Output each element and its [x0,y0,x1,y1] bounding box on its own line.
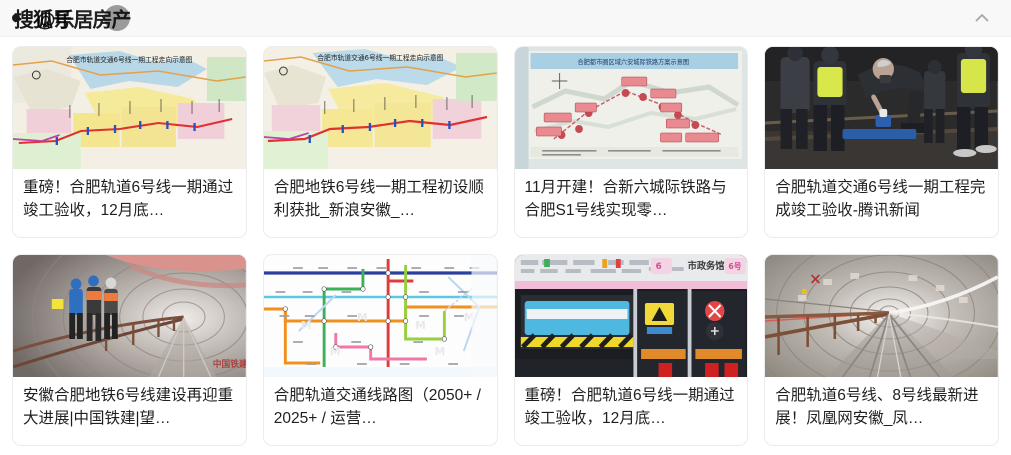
svg-text:中国铁建: 中国铁建 [213,358,246,370]
card-caption: 合肥轨道交通线路图（2050+ / 2025+ / 运营… [264,377,497,445]
card-caption: 合肥轨道交通6号线一期工程完成竣工验收-腾讯新闻 [765,169,998,237]
result-card[interactable]: 合肥轨道6号线、8号线最新进展！凤凰网安徽_凤… [764,254,999,446]
svg-text:6: 6 [655,262,661,272]
result-card[interactable]: 合肥轨道交通6号线一期工程完成竣工验收-腾讯新闻 [764,46,999,238]
result-card[interactable]: 合肥市轨道交通6号线一期工程走向示意图 重磅！合肥轨道6号线一期通过竣工验收，1… [12,46,247,238]
thumbnail-city-rail-map: 合肥市轨道交通6号线一期工程走向示意图 [264,47,497,169]
results-grid: 合肥市轨道交通6号线一期工程走向示意图 重磅！合肥轨道6号线一期通过竣工验收，1… [0,37,1011,446]
svg-text:M: M [357,311,368,324]
result-card[interactable]: MM MM MM 合肥轨道交通线路图（2050+ / 2025+ / 运营… [263,254,498,446]
card-caption: 11月开建！合新六城际铁路与合肥S1号线实现零… [515,169,748,237]
chevron-up-icon[interactable] [969,5,995,31]
card-caption: 合肥轨道6号线、8号线最新进展！凤凰网安徽_凤… [765,377,998,445]
brand-cluster[interactable]: 搜狐号 @乐居房产 [8,0,238,36]
card-caption: 安徽合肥地铁6号线建设再迎重大进展|中国铁建|望… [13,377,246,445]
thumbnail-metro-schematic: MM MM MM [264,255,497,377]
svg-text:合肥市轨道交通6号线一期工程走向示意图: 合肥市轨道交通6号线一期工程走向示意图 [317,53,443,62]
thumbnail-platform-screen-doors: 6 6号 市政务馆 [515,255,748,377]
svg-text:市政务馆: 市政务馆 [687,260,724,272]
result-card[interactable]: 合肥市轨道交通6号线一期工程走向示意图 合肥地铁6号线一期工程初设顺利获批_新浪… [263,46,498,238]
thumbnail-tunnel-interior [765,255,998,377]
svg-text:合肥市轨道交通6号线一期工程走向示意图: 合肥市轨道交通6号线一期工程走向示意图 [66,55,192,64]
thumbnail-workers-track-inspection [765,47,998,169]
card-caption: 合肥地铁6号线一期工程初设顺利获批_新浪安徽_… [264,169,497,237]
card-caption: 重磅！合肥轨道6号线一期通过竣工验收，12月底… [13,169,246,237]
bullet-icon [12,14,20,22]
result-card[interactable]: 中国铁建 安徽合肥地铁6号线建设再迎重大进展|中国铁建|望… [12,254,247,446]
svg-text:6号: 6号 [728,262,741,271]
thumbnail-city-rail-map: 合肥市轨道交通6号线一期工程走向示意图 [13,47,246,169]
app-header: 搜狐号 @乐居房产 [0,0,1011,37]
svg-text:M: M [434,345,445,358]
result-card[interactable]: 合肥都市圈区域六安城际铁路方案示意图 [514,46,749,238]
svg-text:M: M [301,319,312,332]
svg-text:M: M [330,345,341,358]
thumbnail-tunnel-workers: 中国铁建 [13,255,246,377]
svg-text:合肥都市圈区域六安城际铁路方案示意图: 合肥都市圈区域六安城际铁路方案示意图 [577,57,689,66]
svg-text:M: M [415,319,426,332]
result-card[interactable]: 6 6号 市政务馆 [514,254,749,446]
thumbnail-printed-regional-map: 合肥都市圈区域六安城际铁路方案示意图 [515,47,748,169]
card-caption: 重磅！合肥轨道6号线一期通过竣工验收，12月底… [515,377,748,445]
brand-name-secondary: @乐居房产 [36,4,131,33]
